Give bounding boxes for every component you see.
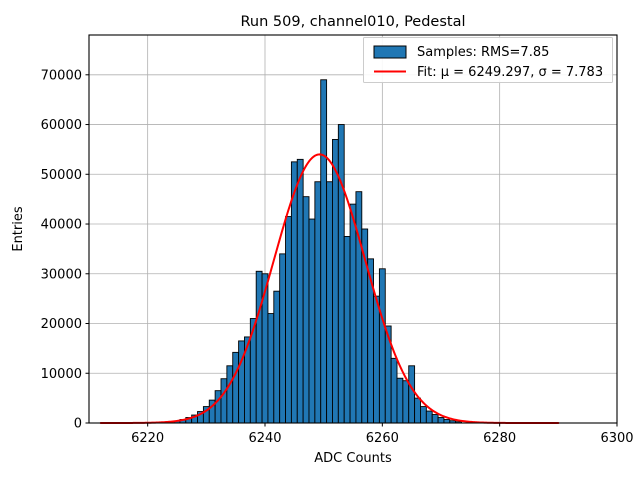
histogram-bar xyxy=(256,271,262,423)
y-tick-label: 10000 xyxy=(41,367,82,382)
histogram-bar xyxy=(344,236,350,423)
pedestal-histogram-chart: Run 509, channel010, Pedestal 0100002000… xyxy=(0,0,640,480)
histogram-bar xyxy=(374,296,380,423)
y-tick-label: 40000 xyxy=(41,218,82,233)
x-tick-label: 6300 xyxy=(600,431,633,446)
histogram-bar xyxy=(403,381,409,423)
histogram-bar xyxy=(391,358,397,423)
y-tick-label: 20000 xyxy=(41,317,82,332)
histogram-bar xyxy=(309,219,315,423)
legend-item-fit-label: Fit: μ = 6249.297, σ = 7.783 xyxy=(417,65,603,80)
histogram-bar xyxy=(274,291,280,423)
histogram-bar xyxy=(432,415,438,423)
figure-canvas: Run 509, channel010, Pedestal 0100002000… xyxy=(0,0,640,480)
histogram-bar xyxy=(356,192,362,423)
histogram-bar xyxy=(438,418,444,423)
x-tick-label: 6280 xyxy=(483,431,516,446)
histogram-bar xyxy=(303,197,309,423)
histogram-bar xyxy=(332,139,338,423)
legend-swatch-samples xyxy=(374,46,406,58)
x-tick-label: 6240 xyxy=(248,431,281,446)
histogram-bar xyxy=(233,352,239,423)
histogram-bar xyxy=(350,204,356,423)
histogram-bar xyxy=(397,378,403,423)
legend-item-samples-label: Samples: RMS=7.85 xyxy=(417,45,549,60)
chart-legend[interactable]: Samples: RMS=7.85 Fit: μ = 6249.297, σ =… xyxy=(364,38,613,83)
histogram-bar xyxy=(268,314,274,423)
x-tick-label: 6260 xyxy=(366,431,399,446)
histogram-bar xyxy=(379,269,385,423)
y-tick-label: 60000 xyxy=(41,118,82,133)
histogram-bar xyxy=(426,411,432,423)
histogram-bar xyxy=(420,407,426,423)
histogram-bar xyxy=(409,366,415,423)
y-tick-label: 30000 xyxy=(41,267,82,282)
histogram-bar xyxy=(227,366,233,423)
histogram-bar xyxy=(297,159,303,423)
histogram-bar xyxy=(280,254,286,423)
histogram-bar xyxy=(286,217,292,423)
histogram-bar xyxy=(215,391,221,423)
x-tick-label: 6220 xyxy=(131,431,164,446)
y-tick-label: 70000 xyxy=(41,68,82,83)
y-axis-label: Entries xyxy=(11,206,26,252)
histogram-bar xyxy=(327,182,333,423)
page-title: Run 509, channel010, Pedestal xyxy=(240,14,465,30)
histogram-bar xyxy=(338,125,344,423)
histogram-bar xyxy=(415,398,421,423)
x-axis-label: ADC Counts xyxy=(314,451,392,466)
y-tick-label: 0 xyxy=(74,417,82,432)
histogram-bar xyxy=(321,80,327,423)
histogram-bar xyxy=(221,379,227,423)
histogram-bar xyxy=(315,182,321,423)
y-tick-label: 50000 xyxy=(41,168,82,183)
